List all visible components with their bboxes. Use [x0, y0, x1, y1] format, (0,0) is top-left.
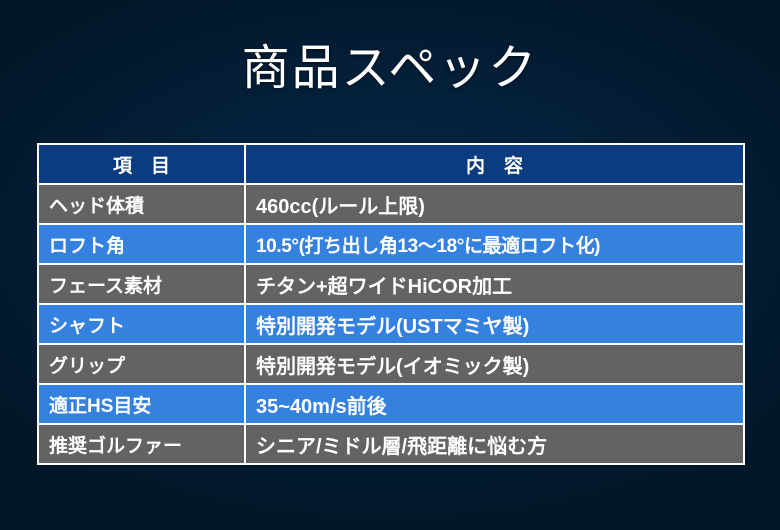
table-header: 項 目 内 容	[39, 145, 743, 183]
spec-value: 特別開発モデル(USTマミヤ製)	[246, 305, 743, 343]
table-body: ヘッド体積460cc(ルール上限)ロフト角10.5°(打ち出し角13〜18°に最…	[39, 185, 743, 463]
page-title: 商品スペック	[0, 40, 780, 98]
table-row: ヘッド体積460cc(ルール上限)	[39, 185, 743, 223]
spec-label: フェース素材	[39, 265, 244, 303]
spec-label: ロフト角	[39, 225, 244, 263]
column-header-content: 内 容	[246, 145, 743, 183]
spec-value: シニア/ミドル層/飛距離に悩む方	[246, 425, 743, 463]
column-header-item: 項 目	[39, 145, 244, 183]
spec-label: 推奨ゴルファー	[39, 425, 244, 463]
table-header-row: 項 目 内 容	[39, 145, 743, 183]
spec-table: 項 目 内 容 ヘッド体積460cc(ルール上限)ロフト角10.5°(打ち出し角…	[37, 143, 745, 465]
spec-value: 10.5°(打ち出し角13〜18°に最適ロフト化)	[246, 225, 743, 263]
table-row: グリップ特別開発モデル(イオミック製)	[39, 345, 743, 383]
spec-label: グリップ	[39, 345, 244, 383]
slide-root: 商品スペック 項 目 内 容 ヘッド体積460cc(ルール上限)ロフト角10.5…	[0, 0, 780, 530]
table-row: 適正HS目安35~40m/s前後	[39, 385, 743, 423]
table-row: フェース素材チタン+超ワイドHiCOR加工	[39, 265, 743, 303]
spec-table-container: 項 目 内 容 ヘッド体積460cc(ルール上限)ロフト角10.5°(打ち出し角…	[37, 143, 743, 465]
spec-value: 460cc(ルール上限)	[246, 185, 743, 223]
spec-value: 特別開発モデル(イオミック製)	[246, 345, 743, 383]
spec-value: 35~40m/s前後	[246, 385, 743, 423]
spec-label: 適正HS目安	[39, 385, 244, 423]
spec-value: チタン+超ワイドHiCOR加工	[246, 265, 743, 303]
spec-label: シャフト	[39, 305, 244, 343]
table-row: シャフト特別開発モデル(USTマミヤ製)	[39, 305, 743, 343]
spec-label: ヘッド体積	[39, 185, 244, 223]
table-row: 推奨ゴルファーシニア/ミドル層/飛距離に悩む方	[39, 425, 743, 463]
table-row: ロフト角10.5°(打ち出し角13〜18°に最適ロフト化)	[39, 225, 743, 263]
